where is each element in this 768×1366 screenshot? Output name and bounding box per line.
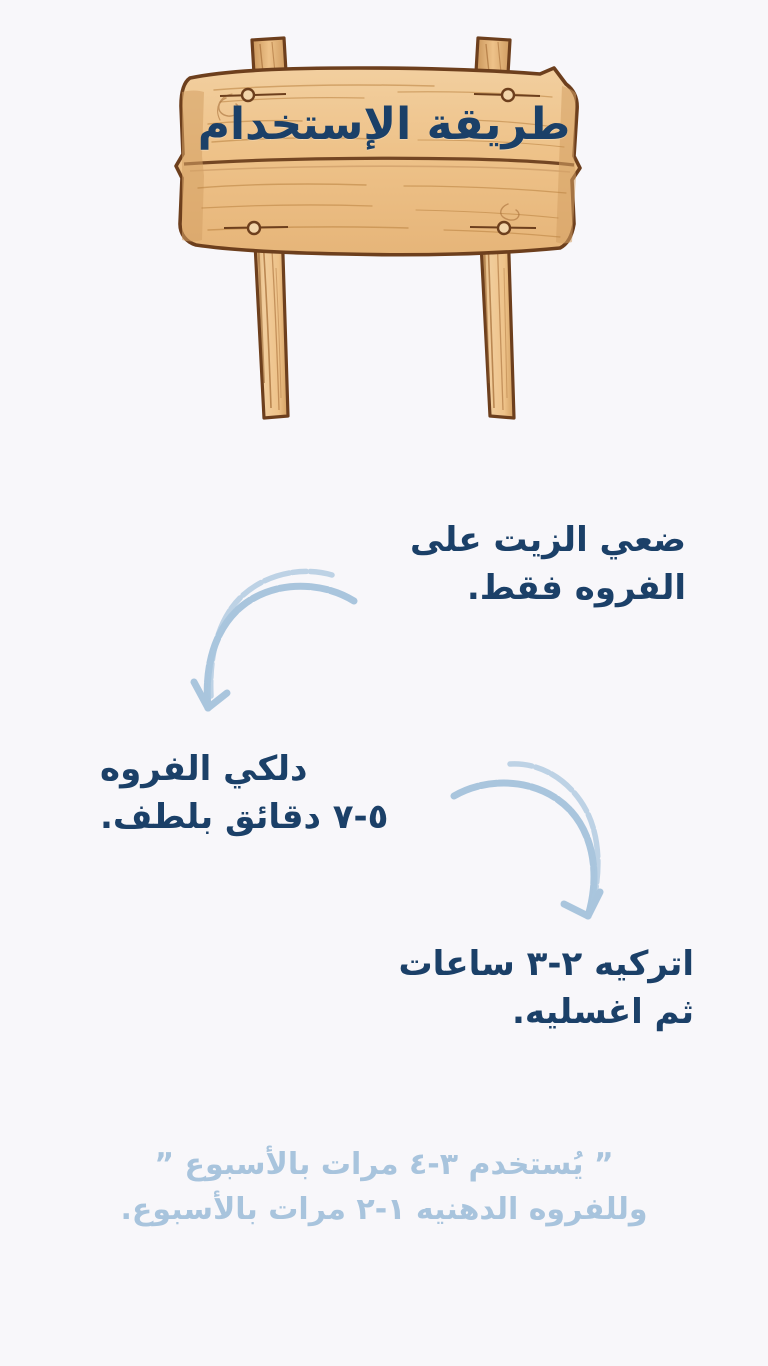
curved-arrow-down-left-icon bbox=[182, 556, 372, 756]
curved-arrow-down-right-icon bbox=[436, 752, 626, 952]
poster-root: طريقة الإستخدام ضعي الزيت على الفروه فقط… bbox=[0, 0, 768, 1366]
sign-post-top-right bbox=[476, 38, 510, 74]
usage-frequency-note: ” يُستخدم ٣-٤ مرات بالأسبوع ” وللفروه ال… bbox=[0, 1142, 768, 1232]
step-3-line-1: اتركيه ٢-٣ ساعات bbox=[234, 940, 694, 988]
instruction-step-3: اتركيه ٢-٣ ساعات ثم اغسليه. bbox=[234, 940, 694, 1037]
step-3-line-2: ثم اغسليه. bbox=[234, 988, 694, 1036]
wooden-sign-illustration bbox=[168, 28, 598, 436]
wooden-sign: طريقة الإستخدام bbox=[0, 0, 768, 470]
page-title: طريقة الإستخدام bbox=[196, 96, 572, 154]
usage-note-line-2: وللفروه الدهنيه ١-٢ مرات بالأسبوع. bbox=[0, 1187, 768, 1232]
usage-note-line-1: ” يُستخدم ٣-٤ مرات بالأسبوع ” bbox=[0, 1142, 768, 1187]
